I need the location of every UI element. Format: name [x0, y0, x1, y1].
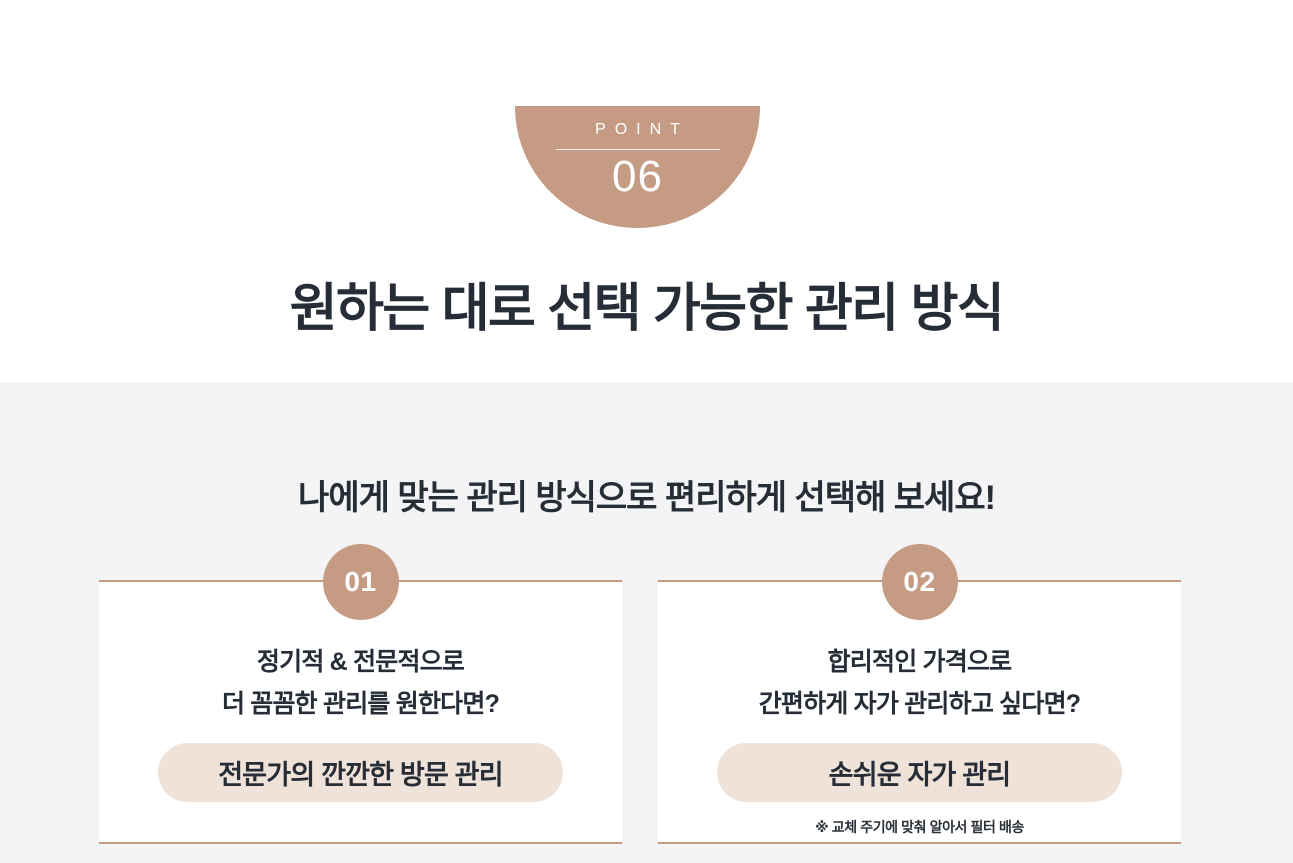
- point-badge-number: 06: [612, 154, 663, 200]
- option-card-01-lead-line-2: 더 꼼꼼한 관리를 원한다면?: [222, 683, 499, 725]
- option-card-02[interactable]: 02 합리적인 가격으로 간편하게 자가 관리하고 싶다면? 손쉬운 자가 관리…: [658, 580, 1181, 844]
- option-card-02-pill-button[interactable]: 손쉬운 자가 관리: [717, 743, 1122, 802]
- page-root: POINT 06 원하는 대로 선택 가능한 관리 방식 나에게 맞는 관리 방…: [0, 0, 1293, 863]
- option-card-01-pill-button[interactable]: 전문가의 깐깐한 방문 관리: [158, 743, 563, 802]
- option-card-01[interactable]: 01 정기적 & 전문적으로 더 꼼꼼한 관리를 원한다면? 전문가의 깐깐한 …: [99, 580, 622, 844]
- options-panel: 나에게 맞는 관리 방식으로 편리하게 선택해 보세요! 01 정기적 & 전문…: [0, 382, 1293, 863]
- hero-section: POINT 06 원하는 대로 선택 가능한 관리 방식: [0, 0, 1293, 382]
- option-card-02-lead-line-2: 간편하게 자가 관리하고 싶다면?: [759, 683, 1081, 725]
- option-card-02-lead: 합리적인 가격으로 간편하게 자가 관리하고 싶다면?: [759, 641, 1081, 725]
- option-card-01-body: 정기적 & 전문적으로 더 꼼꼼한 관리를 원한다면? 전문가의 깐깐한 방문 …: [99, 582, 622, 842]
- option-card-02-body: 합리적인 가격으로 간편하게 자가 관리하고 싶다면? 손쉬운 자가 관리 ※ …: [658, 582, 1181, 842]
- point-badge-divider: [556, 149, 720, 150]
- option-card-02-note: ※ 교체 주기에 맞춰 알아서 필터 배송: [815, 817, 1024, 837]
- option-card-01-lead: 정기적 & 전문적으로 더 꼼꼼한 관리를 원한다면?: [222, 641, 499, 725]
- panel-title: 나에게 맞는 관리 방식으로 편리하게 선택해 보세요!: [0, 478, 1293, 519]
- page-title: 원하는 대로 선택 가능한 관리 방식: [0, 278, 1293, 340]
- option-card-01-lead-line-1: 정기적 & 전문적으로: [222, 641, 499, 683]
- point-badge: POINT 06: [515, 106, 760, 228]
- option-card-02-lead-line-1: 합리적인 가격으로: [759, 641, 1081, 683]
- point-badge-label: POINT: [586, 122, 689, 138]
